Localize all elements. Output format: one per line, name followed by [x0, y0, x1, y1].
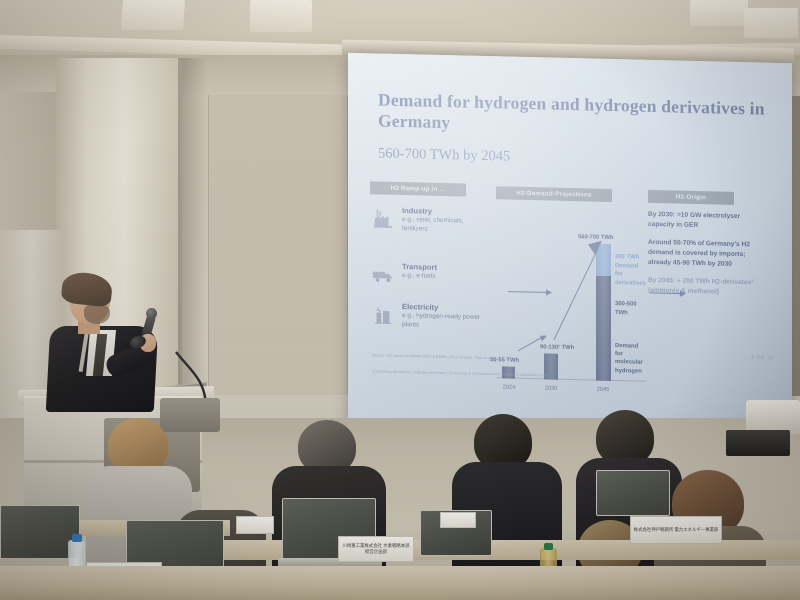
- chart-axis: [496, 377, 646, 382]
- table-row: [0, 566, 800, 600]
- badge-ramp-up: H2 Ramp-up in ...: [370, 181, 466, 196]
- sector-desc: e.g., hydrogen-ready power plants: [402, 312, 488, 332]
- presentation-photo: Demand for hydrogen and hydrogen derivat…: [0, 0, 800, 600]
- page-number: 10: [768, 355, 774, 360]
- truck-icon: [372, 263, 394, 286]
- slide-subtitle: 560-700 TWh by 2045: [378, 145, 510, 165]
- sector-item: Industry e.g., steel, chemicals, fertili…: [372, 205, 492, 208]
- name-card: [440, 512, 476, 528]
- segment-text-derivatives: Demand for derivatives: [615, 262, 645, 288]
- ceiling-speaker-icon: [744, 8, 798, 38]
- slide-content: Demand for hydrogen and hydrogen derivat…: [348, 53, 792, 445]
- x-tick-2030: 2030: [538, 385, 564, 392]
- laptop-screen: [596, 470, 670, 516]
- slide-source: Source: GIZ based on BMWK 2023 & BMWK 20…: [372, 353, 495, 360]
- wall-panel: [208, 95, 348, 395]
- x-tick-2045: 2045: [590, 386, 616, 393]
- projector-unit: [746, 400, 800, 434]
- growth-arrow-icon: [518, 333, 548, 354]
- bottle-cap: [544, 543, 553, 550]
- sector-name: Transport: [402, 262, 437, 272]
- power-plant-icon: [372, 303, 394, 326]
- badge-demand-projections: H2-Demand-Projections: [496, 186, 612, 202]
- name-card: 株式会社神戸製鋼所 電力エネルギー事業部: [630, 516, 722, 544]
- copyright-text: © GIZ: [751, 354, 765, 359]
- equipment-box: [726, 430, 790, 456]
- segment-value-molecular: 360-500 TWh: [615, 300, 645, 317]
- slide-copyright: © GIZ 10: [751, 354, 774, 360]
- sector-item: Transport e.g., e-fuels: [372, 261, 492, 264]
- origin-point: By 2030: >10 GW electrolyser capacity in…: [648, 210, 756, 232]
- sector-desc: e.g., steel, chemicals, fertilizers: [402, 216, 488, 236]
- origin-points: By 2030: >10 GW electrolyser capacity in…: [648, 210, 756, 307]
- x-tick-2024: 2024: [496, 384, 522, 391]
- name-card: 川崎重工業株式会社 水素戦略本部 経営企画部: [338, 536, 414, 562]
- demand-projection-chart: 50-55 TWh 2024 90-130¹ TWh 2030 560-700 …: [496, 206, 646, 400]
- projection-screen: Demand for hydrogen and hydrogen derivat…: [348, 53, 792, 445]
- sector-desc: e.g., e-fuels: [402, 272, 488, 283]
- badge-origin: H2-Origin: [648, 190, 734, 205]
- microphone-head-icon: [146, 308, 157, 319]
- sector-item: Electricity e.g., hydrogen-ready power p…: [372, 301, 492, 304]
- origin-point: By 2045: + 200 TWh H2-derivates² (ammoni…: [648, 276, 756, 298]
- name-card: [236, 516, 274, 534]
- sector-name: Industry: [402, 206, 432, 216]
- ceiling-speaker-icon: [690, 0, 748, 26]
- ceiling-speaker-icon: [250, 0, 312, 32]
- segment-text-molecular: Demand for molecular hydrogen: [615, 342, 643, 376]
- presenter-beard: [84, 304, 110, 324]
- growth-arrow-icon: [552, 238, 604, 343]
- sector-name: Electricity: [402, 302, 438, 312]
- slide-title: Demand for hydrogen and hydrogen derivat…: [378, 89, 768, 141]
- ceiling-speaker-icon: [121, 0, 185, 30]
- origin-point: Around 50-70% of Germany's H2 demand is …: [648, 238, 756, 269]
- factory-icon: [372, 207, 394, 230]
- segment-value-derivatives: 200 TWh: [615, 253, 647, 262]
- bottle-cap: [72, 534, 82, 542]
